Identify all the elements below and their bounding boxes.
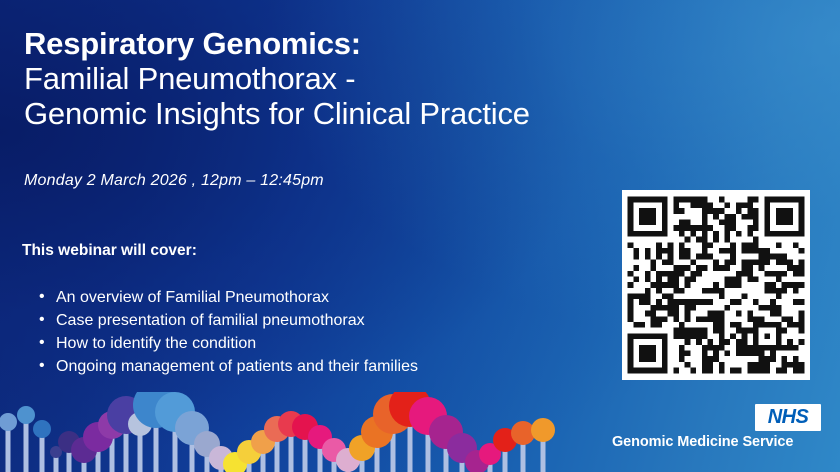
nhs-logo: NHS <box>755 404 821 431</box>
qr-code[interactable] <box>622 190 810 380</box>
list-item: How to identify the condition <box>39 332 418 355</box>
nhs-service-name: Genomic Medicine Service <box>612 434 793 450</box>
qr-code-icon <box>622 190 810 380</box>
agenda-list: An overview of Familial Pneumothorax Cas… <box>39 286 418 378</box>
agenda-heading: This webinar will cover: <box>22 242 197 260</box>
dna-dots-motif-icon <box>0 392 600 472</box>
event-datetime: Monday 2 March 2026 , 12pm – 12:45pm <box>24 172 324 190</box>
list-item: Case presentation of familial pneumothor… <box>39 309 418 332</box>
nhs-logo-text: NHS <box>768 407 808 427</box>
page-title: Respiratory Genomics: Familial Pneumotho… <box>24 26 684 131</box>
title-line-1: Respiratory Genomics: <box>24 26 684 61</box>
list-item: An overview of Familial Pneumothorax <box>39 286 418 309</box>
title-line-2: Familial Pneumothorax - <box>24 61 684 96</box>
title-line-3: Genomic Insights for Clinical Practice <box>24 96 684 131</box>
webinar-poster: Respiratory Genomics: Familial Pneumotho… <box>0 0 840 472</box>
list-item: Ongoing management of patients and their… <box>39 355 418 378</box>
